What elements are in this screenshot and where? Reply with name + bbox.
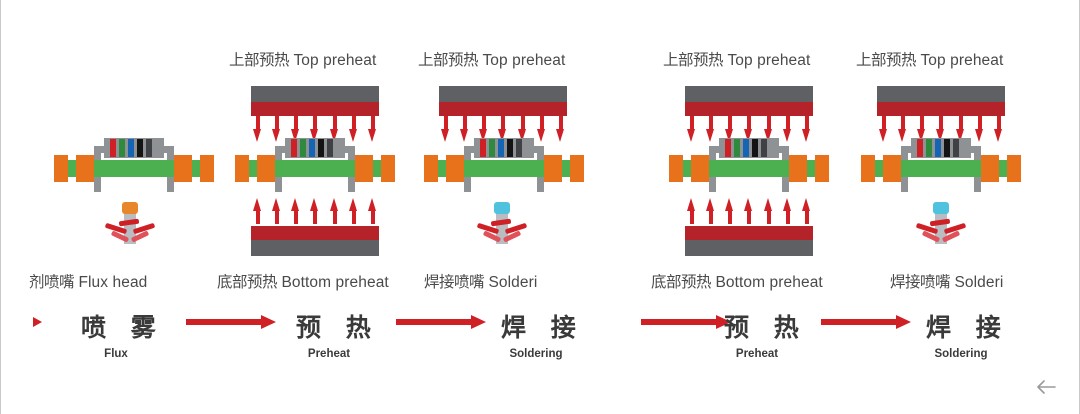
resistor-band-1 [917, 139, 923, 157]
resistor-band-5 [516, 139, 522, 157]
heater-red-slab [877, 102, 1005, 116]
resistor-body [911, 138, 971, 158]
stage-soldering-1-en: Soldering [491, 348, 581, 360]
resistor-band-2 [926, 139, 932, 157]
top-preheat-label-3-cn: 上部预热 [663, 51, 723, 69]
solder-pad-4 [381, 155, 395, 182]
flux-head-label: 剂喷嘴 Flux head [29, 270, 147, 292]
solder-pad-2 [981, 155, 999, 182]
heat-arrow [272, 198, 281, 224]
solder-pad-3 [669, 155, 683, 182]
flux-head-label-cn: 剂喷嘴 [29, 273, 74, 291]
flow-arrow-1 [186, 315, 276, 329]
pcb-assembly-3 [424, 138, 584, 193]
bottom-preheat-label-2: 底部预热 Bottom preheat [651, 270, 823, 292]
resistor-band-1 [291, 139, 297, 157]
flow-bullet-icon [33, 317, 42, 327]
resistor-band-2 [119, 139, 125, 157]
top-preheat-label-2-en: Top preheat [482, 52, 565, 69]
heater-red-slab [251, 226, 379, 240]
bottom-heat-arrows-2 [687, 198, 811, 224]
solder-pad-1 [76, 155, 94, 182]
bottom-preheat-label-1: 底部预热 Bottom preheat [217, 270, 389, 292]
heater-gray-slab [251, 240, 379, 256]
heat-arrow [253, 198, 262, 224]
heater-gray-slab [685, 86, 813, 102]
solder-pad-2 [355, 155, 373, 182]
heat-arrow [349, 198, 358, 224]
heat-arrow [368, 198, 377, 224]
top-preheat-label-2: 上部预热 Top preheat [418, 48, 565, 70]
pcb-assembly-2 [235, 138, 395, 193]
resistor-band-5 [327, 139, 333, 157]
flux-nozzle-icon [107, 198, 153, 250]
soldering-nozzle-label-1-cn: 焊接喷嘴 [424, 273, 484, 291]
solder-pad-2 [544, 155, 562, 182]
heater-gray-slab [439, 86, 567, 102]
resistor-band-4 [507, 139, 513, 157]
resistor-band-2 [300, 139, 306, 157]
heater-red-slab [439, 102, 567, 116]
heat-arrow [764, 198, 773, 224]
pcb-assembly-5 [861, 138, 1021, 193]
resistor-band-2 [489, 139, 495, 157]
stage-preheat-1-en: Preheat [289, 348, 369, 360]
top-preheat-label-1: 上部预热 Top preheat [229, 48, 376, 70]
solder-nozzle-icon-1 [479, 198, 525, 250]
resistor-band-3 [743, 139, 749, 157]
solder-nozzle-cap [933, 202, 949, 214]
heat-arrow [725, 198, 734, 224]
solder-pad-4 [815, 155, 829, 182]
slide-canvas: 上部预热 Top preheat 上部预热 Top preheat 上部预热 T… [0, 0, 1080, 414]
stage-soldering-2-cn: 焊 接 [926, 308, 1009, 344]
top-preheat-label-4-cn: 上部预热 [856, 51, 916, 69]
solder-pad-1 [257, 155, 275, 182]
stage-soldering-1-cn: 焊 接 [501, 308, 584, 344]
solder-pad-1 [691, 155, 709, 182]
top-preheat-label-4: 上部预热 Top preheat [856, 48, 1003, 70]
heater-gray-slab [251, 86, 379, 102]
flow-arrow-3 [641, 315, 731, 329]
soldering-nozzle-label-2-en: Solderi [954, 274, 1003, 291]
bottom-preheat-label-2-en: Bottom preheat [715, 274, 822, 291]
pcb-assembly-1 [54, 138, 214, 193]
top-preheat-label-2-cn: 上部预热 [418, 51, 478, 69]
resistor-band-1 [110, 139, 116, 157]
top-preheat-label-3-en: Top preheat [727, 52, 810, 69]
solder-pad-2 [174, 155, 192, 182]
solder-pad-3 [424, 155, 438, 182]
bottom-preheat-label-1-cn: 底部预热 [217, 273, 277, 291]
resistor-body [719, 138, 779, 158]
stage-preheat-1-cn: 预 热 [296, 308, 379, 344]
stage-flux-en: Flux [81, 348, 151, 360]
top-preheat-label-4-en: Top preheat [920, 52, 1003, 69]
solder-pad-1 [446, 155, 464, 182]
resistor-body [104, 138, 164, 158]
resistor-band-5 [761, 139, 767, 157]
flow-arrow-2 [396, 315, 486, 329]
resistor-body [474, 138, 534, 158]
heat-arrow [802, 198, 811, 224]
heat-arrow [310, 198, 319, 224]
soldering-nozzle-label-2: 焊接喷嘴 Solderi [890, 270, 1003, 292]
resistor-band-2 [734, 139, 740, 157]
soldering-nozzle-label-1: 焊接喷嘴 Solderi [424, 270, 537, 292]
flux-head-label-en: Flux head [78, 274, 147, 291]
heater-red-slab [685, 102, 813, 116]
stage-preheat-2-cn: 预 热 [724, 308, 807, 344]
heat-arrow [706, 198, 715, 224]
top-preheat-label-3: 上部预热 Top preheat [663, 48, 810, 70]
solder-pad-3 [235, 155, 249, 182]
heat-arrow [744, 198, 753, 224]
soldering-nozzle-label-2-cn: 焊接喷嘴 [890, 273, 950, 291]
solder-pad-3 [861, 155, 875, 182]
resistor-band-3 [498, 139, 504, 157]
bottom-heat-arrows-1 [253, 198, 377, 224]
heater-red-slab [685, 226, 813, 240]
stage-preheat-2-en: Preheat [717, 348, 797, 360]
heater-red-slab [251, 102, 379, 116]
heat-arrow [783, 198, 792, 224]
solder-nozzle-icon-2 [918, 198, 964, 250]
resistor-band-3 [935, 139, 941, 157]
top-preheat-label-1-cn: 上部预热 [229, 51, 289, 69]
resistor-body [285, 138, 345, 158]
resistor-band-4 [752, 139, 758, 157]
resistor-band-1 [725, 139, 731, 157]
pcb-assembly-4 [669, 138, 829, 193]
solder-pad-1 [883, 155, 901, 182]
resistor-band-4 [137, 139, 143, 157]
solder-pad-2 [789, 155, 807, 182]
heat-arrow [330, 198, 339, 224]
solder-pad-3 [54, 155, 68, 182]
soldering-nozzle-label-1-en: Solderi [488, 274, 537, 291]
solder-nozzle-cap [494, 202, 510, 214]
bottom-preheat-label-2-cn: 底部预热 [651, 273, 711, 291]
solder-pad-4 [570, 155, 584, 182]
heat-arrow [291, 198, 300, 224]
resistor-band-5 [146, 139, 152, 157]
heater-gray-slab [685, 240, 813, 256]
resistor-band-3 [309, 139, 315, 157]
heat-arrow [687, 198, 696, 224]
solder-pad-4 [1007, 155, 1021, 182]
resistor-band-4 [944, 139, 950, 157]
resistor-band-5 [953, 139, 959, 157]
heater-gray-slab [877, 86, 1005, 102]
resistor-band-1 [480, 139, 486, 157]
stage-flux-cn: 喷 雾 [81, 308, 164, 344]
solder-pad-4 [200, 155, 214, 182]
resistor-band-4 [318, 139, 324, 157]
flux-nozzle-cap [122, 202, 138, 214]
top-preheat-label-1-en: Top preheat [293, 52, 376, 69]
arrow-left-icon[interactable] [1035, 378, 1057, 396]
flow-arrow-4 [821, 315, 911, 329]
resistor-band-3 [128, 139, 134, 157]
bottom-preheat-label-1-en: Bottom preheat [281, 274, 388, 291]
stage-soldering-2-en: Soldering [916, 348, 1006, 360]
